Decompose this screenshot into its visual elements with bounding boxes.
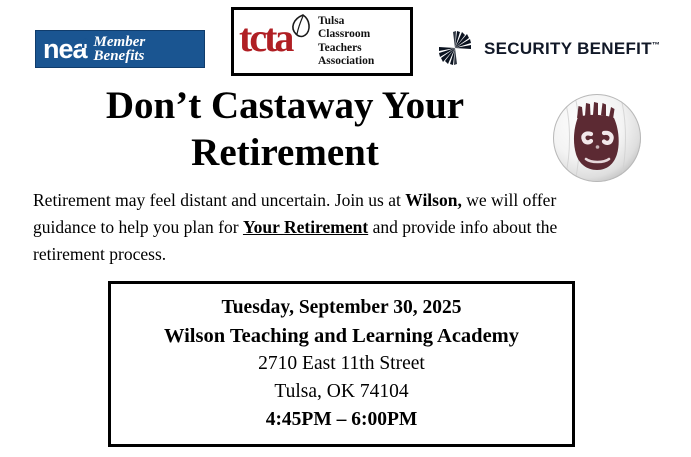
tcta-line-4: Association (318, 55, 374, 69)
trademark-symbol: ™ (652, 40, 660, 49)
event-flyer: nea Member Benefits tcta (0, 0, 691, 457)
tcta-mark: tcta (234, 10, 318, 73)
tcta-line-2: Classroom (318, 28, 374, 42)
leaf-icon (283, 12, 313, 42)
security-benefit-wordmark: SECURITY BENEFIT™ (484, 40, 660, 57)
schoolhouse-icon (80, 36, 91, 47)
page-title-line-1: Don’t Castaway Your (30, 82, 540, 129)
tcta-line-1: Tulsa (318, 15, 374, 29)
nea-tagline: Member Benefits (94, 35, 146, 63)
event-street-address: 2710 East 11th Street (258, 350, 425, 378)
security-benefit-logo: SECURITY BENEFIT™ (433, 28, 660, 68)
event-details-box: Tuesday, September 30, 2025 Wilson Teach… (108, 281, 575, 447)
pinwheel-starburst-icon (433, 28, 477, 68)
event-venue: Wilson Teaching and Learning Academy (164, 322, 519, 350)
body-text-wilson-bold: Wilson, (405, 190, 462, 210)
page-title-line-2: Retirement (30, 129, 540, 176)
body-paragraph: Retirement may feel distant and uncertai… (33, 187, 563, 268)
event-date: Tuesday, September 30, 2025 (222, 294, 462, 322)
security-benefit-text: SECURITY BENEFIT (484, 39, 652, 58)
tcta-logo: tcta Tulsa Classroom Teachers Associatio… (231, 7, 413, 76)
wilson-volleyball-image (551, 92, 643, 184)
body-text-segment-1: Retirement may feel distant and uncertai… (33, 190, 405, 210)
body-text-your-retirement-emphasis: Your Retirement (243, 217, 368, 237)
logo-bar: nea Member Benefits tcta (0, 0, 691, 82)
nea-member-benefits-logo: nea Member Benefits (35, 30, 205, 68)
tcta-line-3: Teachers (318, 42, 374, 56)
tcta-org-name: Tulsa Classroom Teachers Association (318, 15, 374, 69)
event-city-state-zip: Tulsa, OK 74104 (274, 378, 408, 406)
page-title: Don’t Castaway Your Retirement (30, 82, 540, 176)
nea-tagline-line2: Benefits (94, 48, 145, 64)
event-time: 4:45PM – 6:00PM (266, 406, 418, 434)
